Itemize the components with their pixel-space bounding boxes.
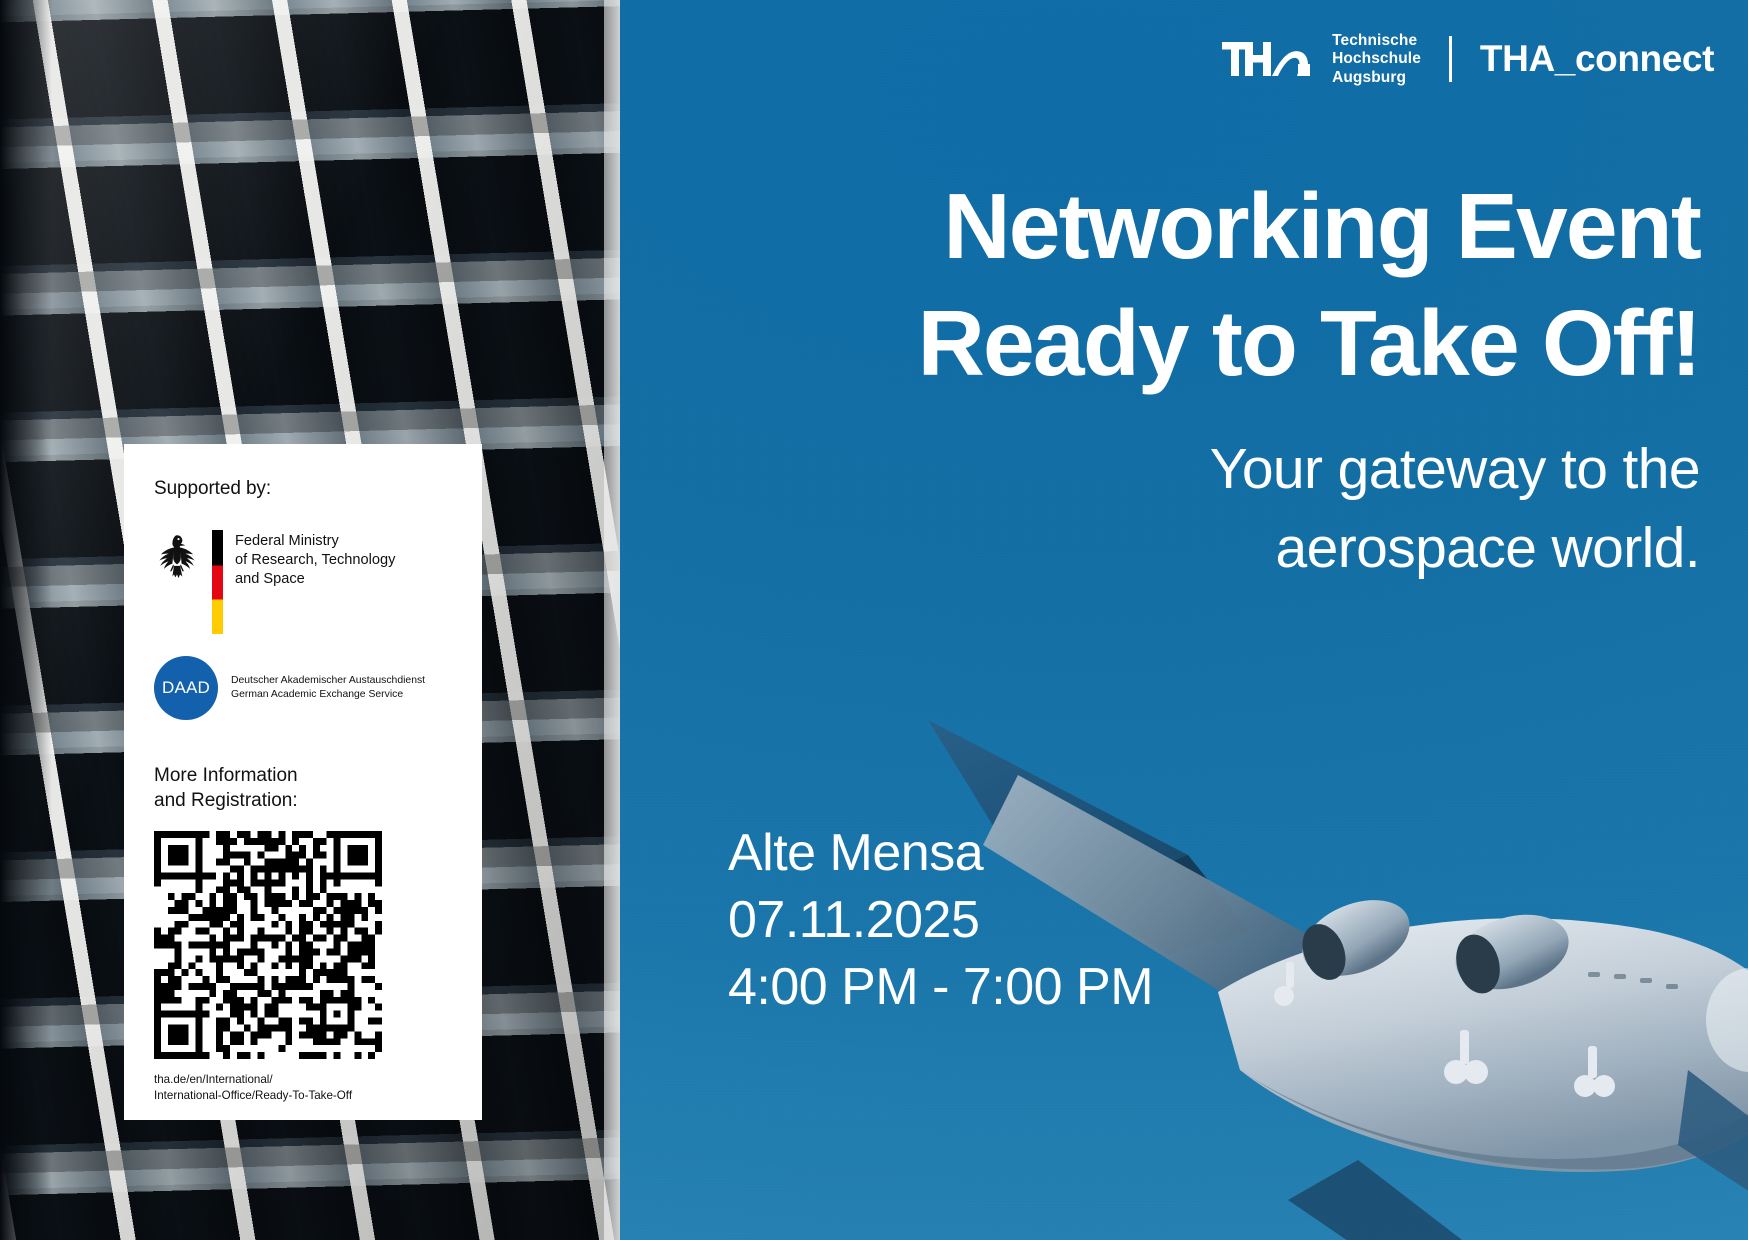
event-time: 4:00 PM - 7:00 PM [728,954,1153,1021]
headline-line-1: Networking Event [780,168,1700,285]
registration-url: tha.de/en/International/ International-O… [154,1072,452,1103]
qr-code-registration[interactable] [154,831,382,1059]
page-title: Networking Event Ready to Take Off! [780,168,1700,402]
registration-label-line-1: More Information [154,764,452,789]
subtitle-line-1: Your gateway to the [940,430,1700,509]
header-divider [1449,36,1452,82]
daad-name-line-2: German Academic Exchange Service [231,688,425,702]
tha-logo: Technische Hochschule Augsburg [1222,32,1421,87]
daad-acronym: DAAD [154,656,218,720]
university-name: Technische Hochschule Augsburg [1332,32,1421,87]
building-left-shadow [0,0,52,1240]
ministry-name-line-1: Federal Ministry [235,532,395,551]
federal-eagle-icon [154,532,200,586]
poster-canvas: Technische Hochschule Augsburg THA_conne… [0,0,1748,1240]
page-subtitle: Your gateway to the aerospace world. [940,430,1700,587]
brand-name: THA_connect [1480,38,1714,80]
registration-url-line-2: International-Office/Ready-To-Take-Off [154,1088,452,1103]
university-name-line-1: Technische [1332,32,1421,50]
ministry-name-line-3: and Space [235,570,395,589]
building-right-edge [604,0,620,1240]
event-details: Alte Mensa 07.11.2025 4:00 PM - 7:00 PM [728,820,1153,1021]
registration-label: More Information and Registration: [154,764,452,813]
supported-by-label: Supported by: [154,478,452,500]
ministry-name: Federal Ministry of Research, Technology… [235,530,395,589]
registration-label-line-2: and Registration: [154,789,452,814]
university-name-line-3: Augsburg [1332,69,1421,87]
supporters-card: Supported by: [124,444,482,1120]
subtitle-line-2: aerospace world. [940,509,1700,588]
university-name-line-2: Hochschule [1332,50,1421,68]
ministry-name-line-2: of Research, Technology [235,551,395,570]
brand-header: Technische Hochschule Augsburg THA_conne… [1222,32,1714,87]
daad-name: Deutscher Akademischer Austauschdienst G… [231,674,425,703]
daad-logo: DAAD Deutscher Akademischer Austauschdie… [154,656,452,720]
headline-line-2: Ready to Take Off! [780,285,1700,402]
daad-name-line-1: Deutscher Akademischer Austauschdienst [231,674,425,688]
german-flag-bar [212,530,223,634]
registration-url-line-1: tha.de/en/International/ [154,1072,452,1087]
event-venue: Alte Mensa [728,820,1153,887]
tha-logo-mark [1222,35,1316,83]
federal-ministry-logo: Federal Ministry of Research, Technology… [154,530,452,634]
event-date: 07.11.2025 [728,887,1153,954]
